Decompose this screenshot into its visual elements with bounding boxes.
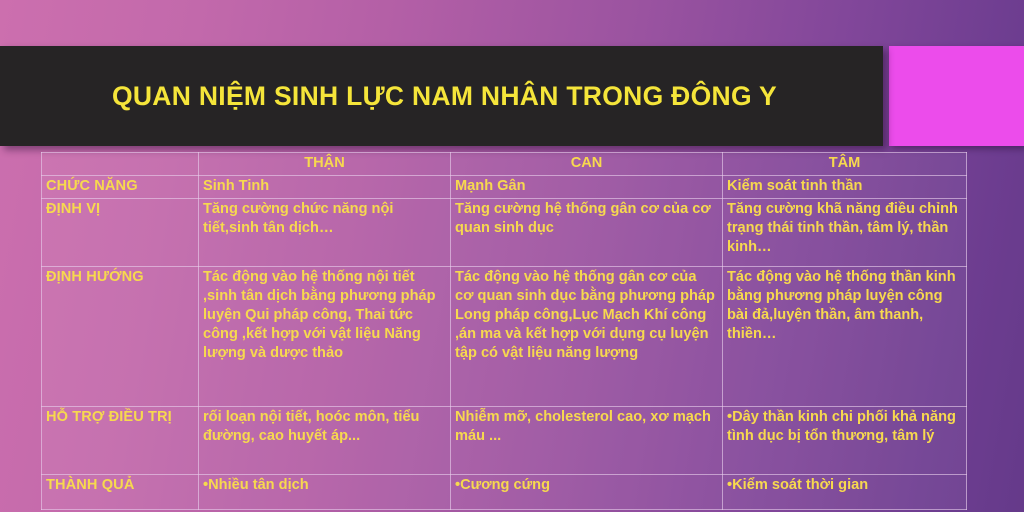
cell-thanh-qua-can: •Cương cứng bbox=[451, 474, 723, 509]
row-label-dinh-vi: ĐỊNH VỊ bbox=[42, 198, 199, 266]
table-row: ĐỊNH HƯỚNG Tác động vào hệ thống nội tiế… bbox=[42, 266, 967, 406]
cell-dinh-vi-than: Tăng cường chức năng nội tiết,sinh tân d… bbox=[199, 198, 451, 266]
comparison-table: THẬN CAN TÂM CHỨC NĂNG Sinh Tinh Mạnh Gâ… bbox=[41, 152, 967, 510]
column-header-tam: TÂM bbox=[723, 153, 967, 176]
row-label-thanh-qua: THÀNH QUẢ bbox=[42, 474, 199, 509]
column-header-blank bbox=[42, 153, 199, 176]
cell-ho-tro-can: Nhiễm mỡ, cholesterol cao, xơ mạch máu .… bbox=[451, 406, 723, 474]
slide-title-bar: QUAN NIỆM SINH LỰC NAM NHÂN TRONG ĐÔNG Y bbox=[0, 46, 883, 146]
table-row: CHỨC NĂNG Sinh Tinh Mạnh Gân Kiểm soát t… bbox=[42, 176, 967, 199]
table-row: THÀNH QUẢ •Nhiều tân dịch •Cương cứng •K… bbox=[42, 474, 967, 509]
page-title: QUAN NIỆM SINH LỰC NAM NHÂN TRONG ĐÔNG Y bbox=[0, 81, 883, 112]
cell-chuc-nang-tam: Kiểm soát tinh thần bbox=[723, 176, 967, 199]
cell-ho-tro-tam: •Dây thần kinh chi phối khả năng tình dụ… bbox=[723, 406, 967, 474]
cell-dinh-huong-than: Tác động vào hệ thống nội tiết ,sinh tân… bbox=[199, 266, 451, 406]
row-label-dinh-huong: ĐỊNH HƯỚNG bbox=[42, 266, 199, 406]
row-label-chuc-nang: CHỨC NĂNG bbox=[42, 176, 199, 199]
cell-thanh-qua-tam: •Kiểm soát thời gian bbox=[723, 474, 967, 509]
cell-dinh-huong-tam: Tác động vào hệ thống thần kinh bằng phư… bbox=[723, 266, 967, 406]
cell-thanh-qua-than: •Nhiều tân dịch bbox=[199, 474, 451, 509]
cell-chuc-nang-than: Sinh Tinh bbox=[199, 176, 451, 199]
cell-ho-tro-than: rối loạn nội tiết, hoóc môn, tiểu đường,… bbox=[199, 406, 451, 474]
table-header-row: THẬN CAN TÂM bbox=[42, 153, 967, 176]
table-row: ĐỊNH VỊ Tăng cường chức năng nội tiết,si… bbox=[42, 198, 967, 266]
column-header-can: CAN bbox=[451, 153, 723, 176]
accent-rectangle bbox=[889, 46, 1024, 146]
column-header-than: THẬN bbox=[199, 153, 451, 176]
cell-dinh-vi-tam: Tăng cường khã năng điều chỉnh trạng thá… bbox=[723, 198, 967, 266]
cell-chuc-nang-can: Mạnh Gân bbox=[451, 176, 723, 199]
cell-dinh-vi-can: Tăng cường hệ thống gân cơ của cơ quan s… bbox=[451, 198, 723, 266]
cell-dinh-huong-can: Tác động vào hệ thống gân cơ của cơ quan… bbox=[451, 266, 723, 406]
row-label-ho-tro-dieu-tri: HỖ TRỢ ĐIỀU TRỊ bbox=[42, 406, 199, 474]
table-row: HỖ TRỢ ĐIỀU TRỊ rối loạn nội tiết, hoóc … bbox=[42, 406, 967, 474]
